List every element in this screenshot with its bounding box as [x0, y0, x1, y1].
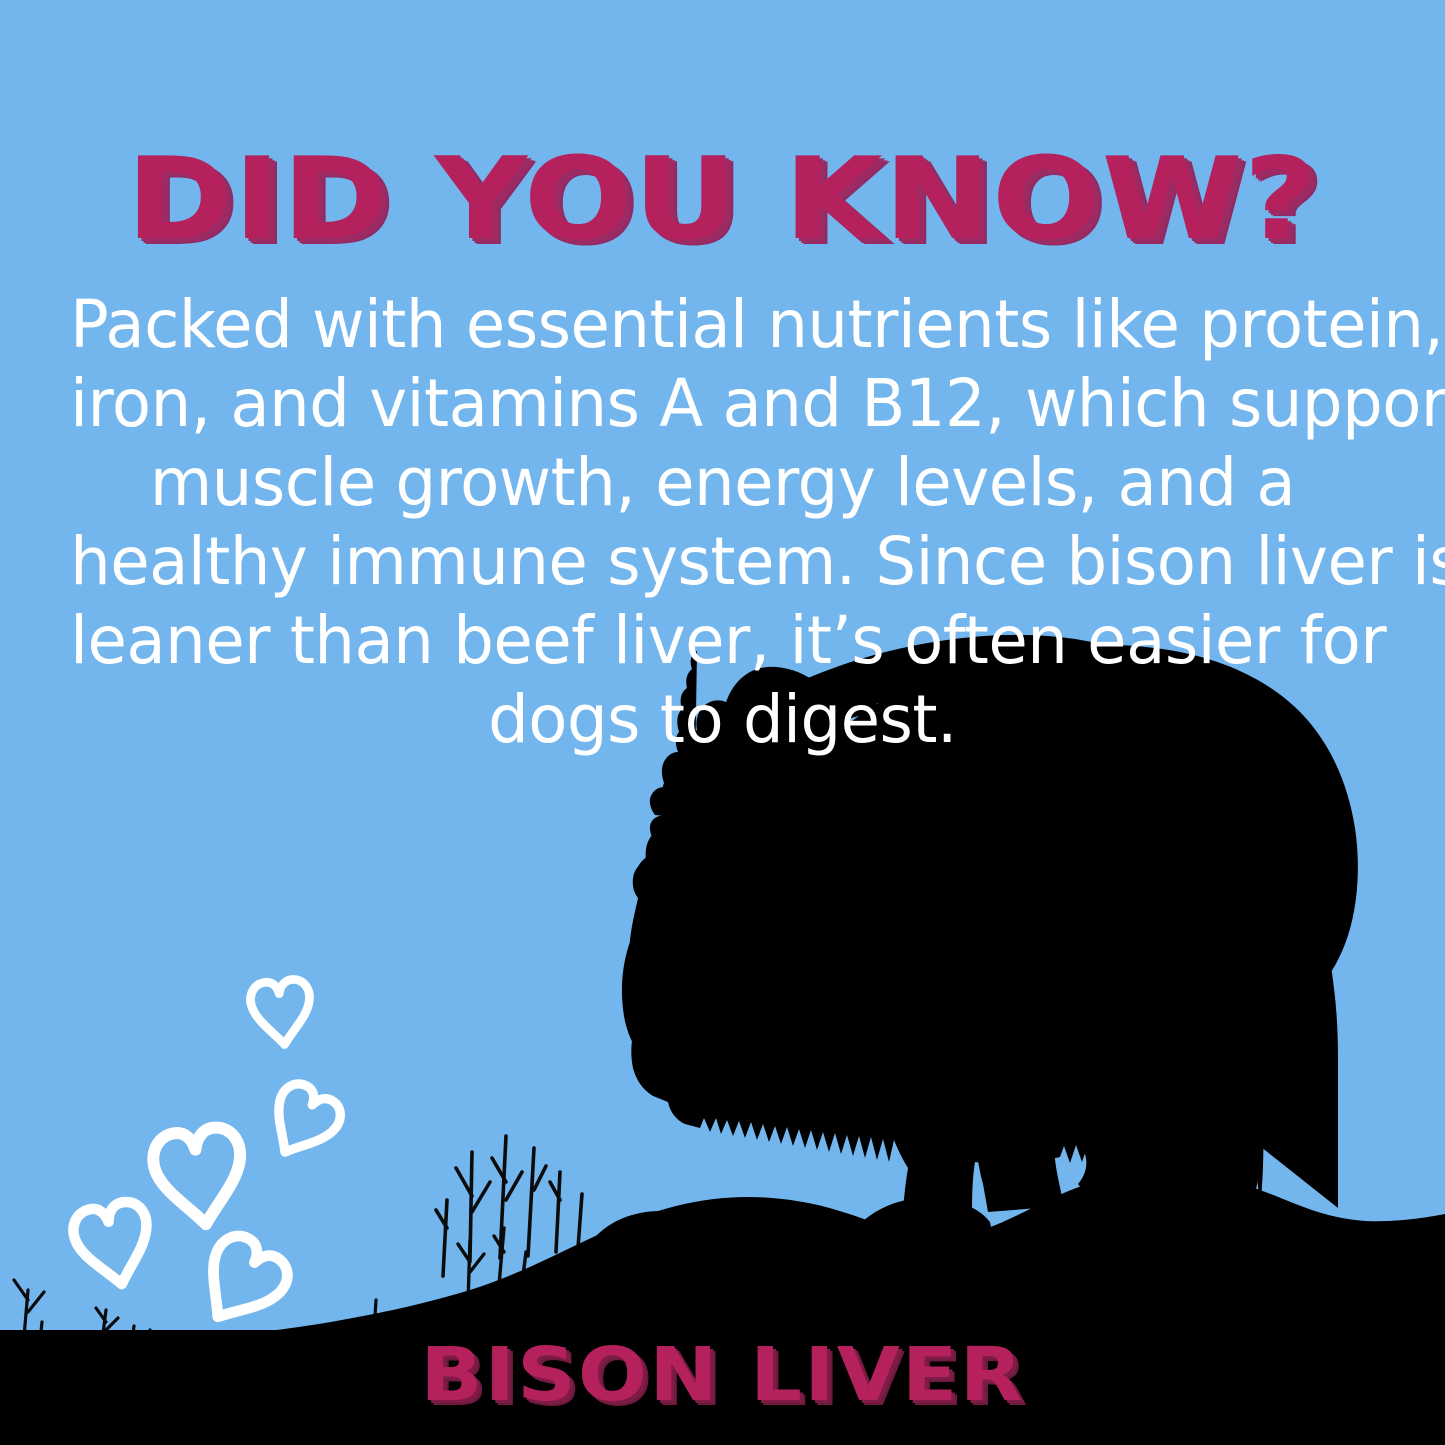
heart-icon-2 — [258, 1077, 347, 1168]
poster-canvas: DID YOU KNOW? Packed with essential nutr… — [0, 0, 1445, 1445]
body-line-5: leaner than beef liver, it’s often easie… — [70, 601, 1375, 680]
heart-icon-5 — [187, 1228, 296, 1338]
body-line-3: muscle growth, energy levels, and a — [70, 443, 1375, 522]
body-copy: Packed with essential nutrients like pro… — [70, 285, 1375, 759]
bottom-label-bison-liver: BISON LIVER — [0, 1338, 1445, 1412]
body-line-4: healthy immune system. Since bison liver… — [70, 522, 1375, 601]
heart-icon-3 — [150, 1125, 249, 1231]
heart-icon-4 — [69, 1198, 158, 1291]
heart-icon-1 — [249, 978, 314, 1048]
body-line-1: Packed with essential nutrients like pro… — [70, 285, 1375, 364]
body-line-2: iron, and vitamins A and B12, which supp… — [70, 364, 1375, 443]
headline-did-you-know: DID YOU KNOW? — [0, 143, 1445, 256]
body-line-6: dogs to digest. — [70, 680, 1375, 759]
